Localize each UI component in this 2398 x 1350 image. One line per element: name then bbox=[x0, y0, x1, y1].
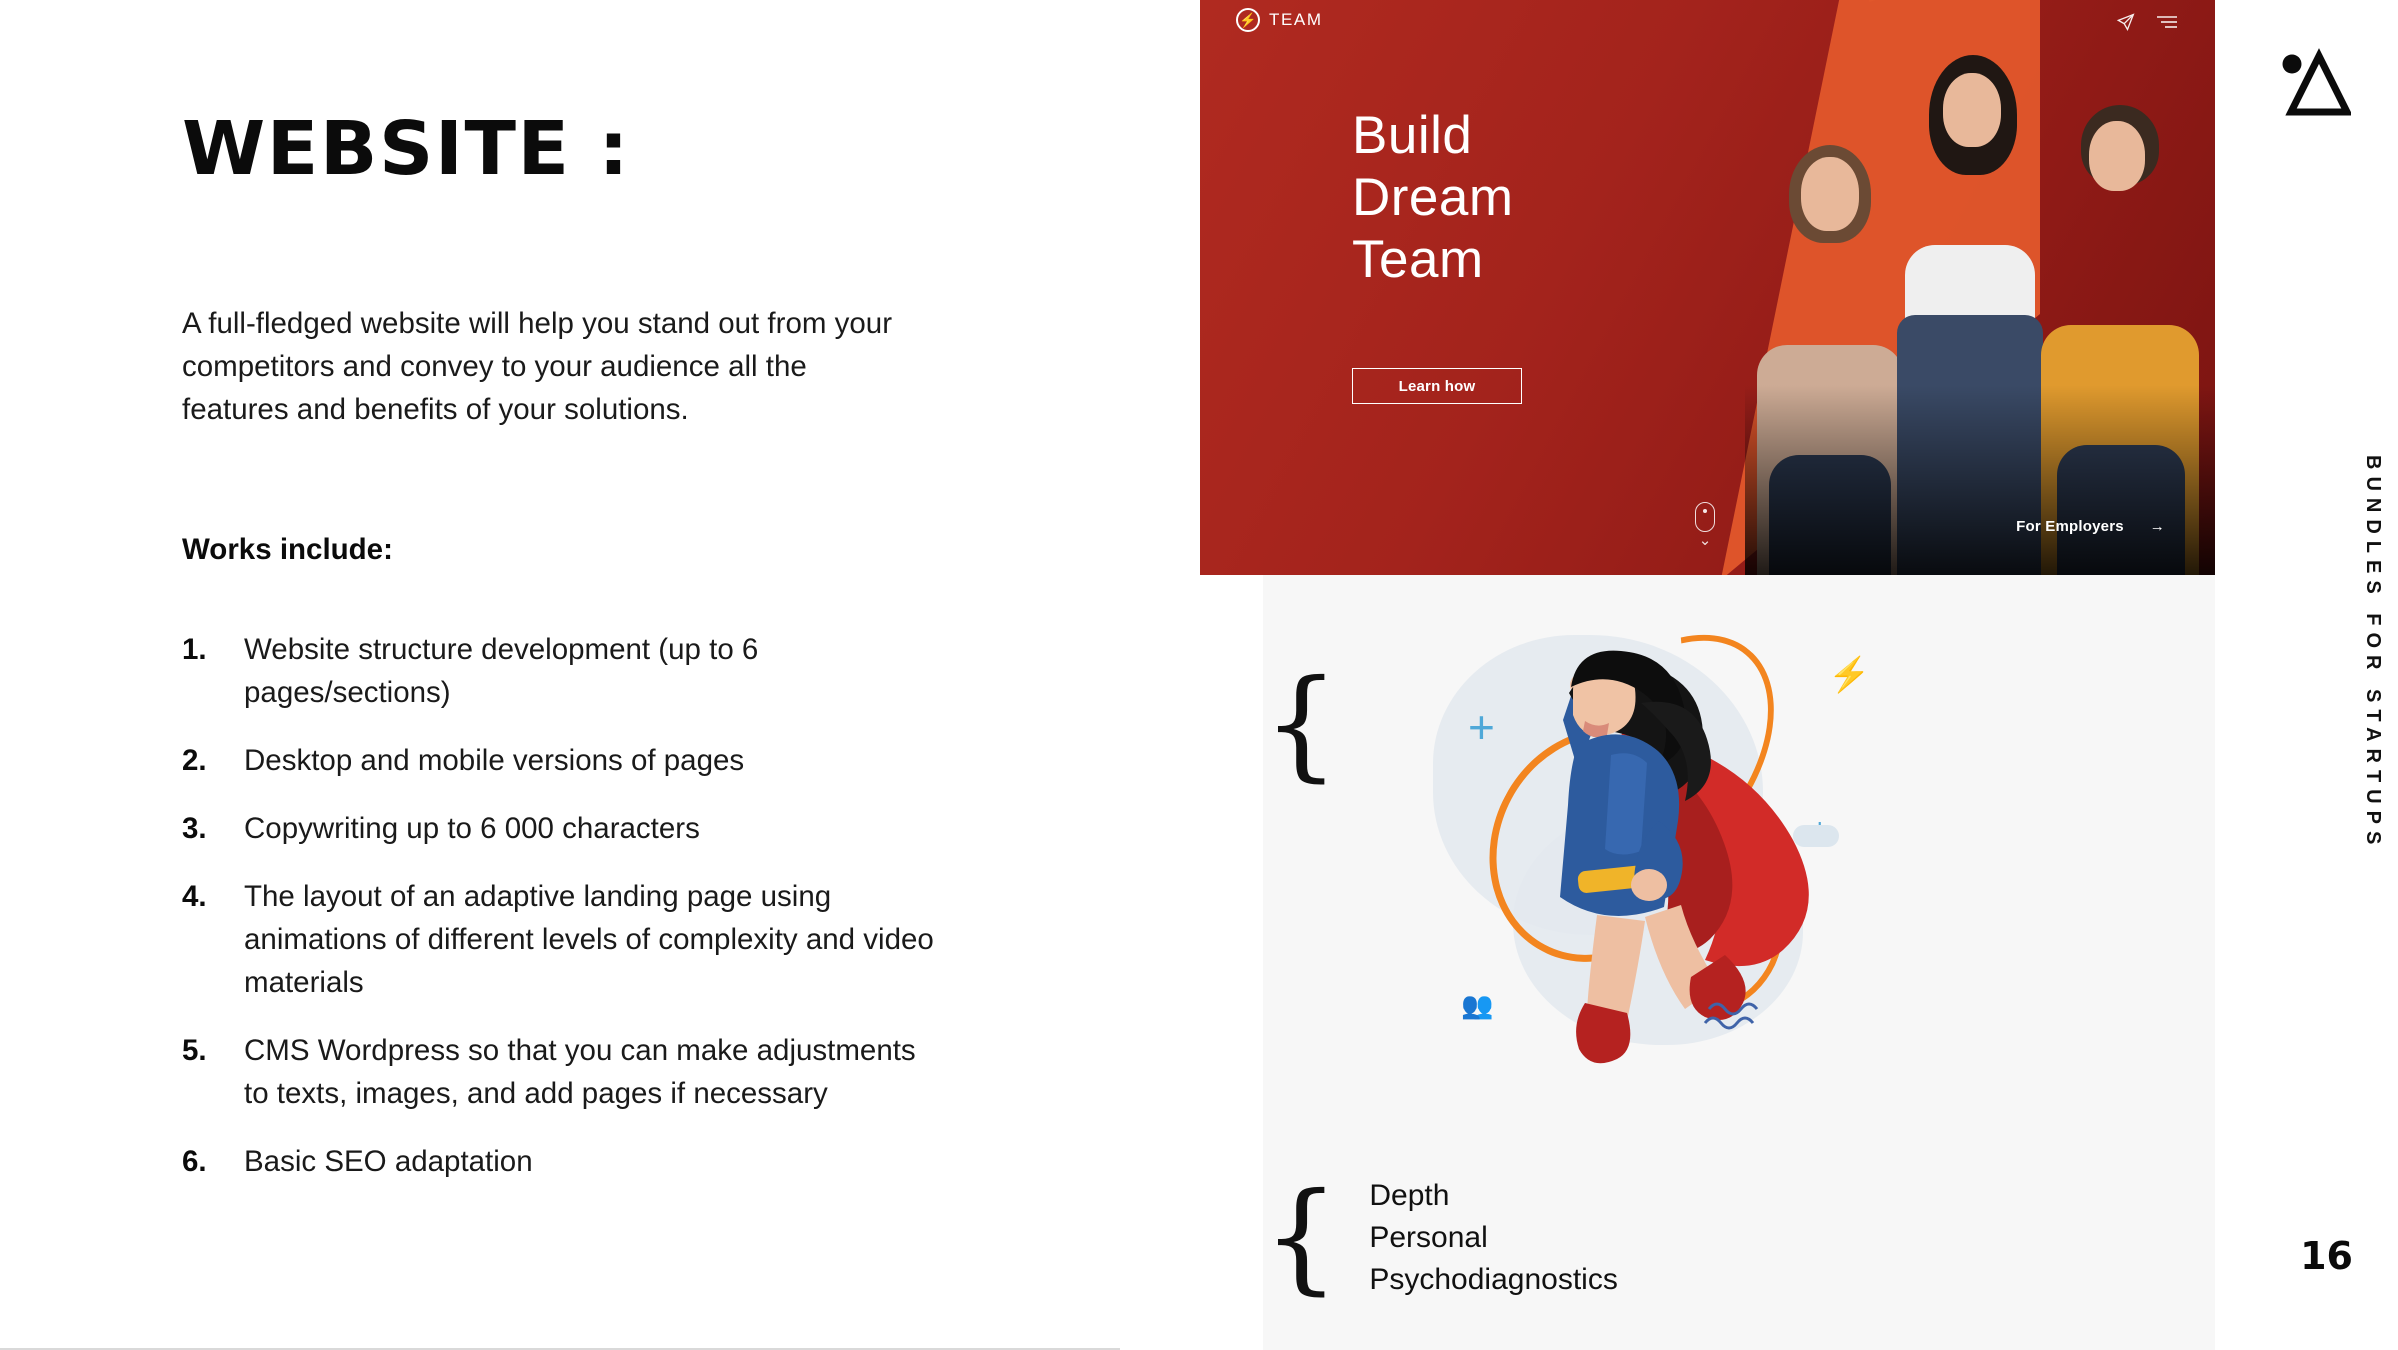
desktop-website-mockup: ⚡ TEAM Build Dream Team Learn how ⌄ For … bbox=[1200, 0, 2215, 575]
learn-how-button[interactable]: Learn how bbox=[1352, 368, 1522, 404]
lightning-bolt-icon: ⚡ bbox=[1236, 8, 1260, 32]
works-include-heading: Works include: bbox=[182, 533, 393, 567]
list-item: 6. Basic SEO adaptation bbox=[182, 1140, 942, 1183]
flying-superhero-woman-illustration: + + ⚡ 👥 bbox=[1373, 595, 1933, 1065]
list-item: 2. Desktop and mobile versions of pages bbox=[182, 739, 942, 782]
telegram-send-icon[interactable] bbox=[2115, 12, 2135, 37]
list-item-label: The layout of an adaptive landing page u… bbox=[244, 875, 942, 1004]
page-number: 16 bbox=[2300, 1234, 2353, 1278]
depth-line: Depth bbox=[1369, 1175, 1617, 1217]
brace-bottom-glyph: { bbox=[1263, 1188, 1339, 1289]
scroll-down-indicator[interactable]: ⌄ bbox=[1695, 502, 1715, 546]
depth-line: Personal bbox=[1369, 1217, 1617, 1259]
hero-logo-label: TEAM bbox=[1269, 10, 1323, 30]
list-item-number: 1. bbox=[182, 628, 244, 714]
vertical-rail-label: BUNDLES FOR STARTUPS bbox=[2361, 455, 2384, 851]
list-item-label: Basic SEO adaptation bbox=[244, 1140, 533, 1183]
depth-lines: Depth Personal Psychodiagnostics bbox=[1369, 1175, 1617, 1301]
list-item-number: 5. bbox=[182, 1029, 244, 1115]
depth-callout: { Depth Personal Psychodiagnostics bbox=[1263, 1175, 1618, 1301]
list-item-label: Website structure development (up to 6 p… bbox=[244, 628, 942, 714]
list-item: 4. The layout of an adaptive landing pag… bbox=[182, 875, 942, 1004]
arrow-right-icon: → bbox=[2150, 518, 2165, 535]
for-employers-link[interactable]: For Employers → bbox=[2016, 518, 2165, 535]
triangle-dot-logo bbox=[2275, 48, 2351, 120]
list-item: 1. Website structure development (up to … bbox=[182, 628, 942, 714]
hero-nav bbox=[2115, 12, 2177, 37]
brace-top-glyph: { bbox=[1263, 655, 1339, 794]
works-list: 1. Website structure development (up to … bbox=[182, 628, 942, 1208]
illustration-panel: { bbox=[1263, 575, 2215, 1350]
intro-paragraph: A full-fledged website will help you sta… bbox=[182, 302, 902, 431]
hero-logo[interactable]: ⚡ TEAM bbox=[1236, 8, 1323, 32]
depth-line: Psychodiagnostics bbox=[1369, 1259, 1617, 1301]
list-item-label: CMS Wordpress so that you can make adjus… bbox=[244, 1029, 942, 1115]
list-item: 5. CMS Wordpress so that you can make ad… bbox=[182, 1029, 942, 1115]
list-item: 3. Copywriting up to 6 000 characters bbox=[182, 807, 942, 850]
hamburger-menu-icon[interactable] bbox=[2157, 15, 2177, 34]
mockups-collage: { bbox=[1200, 0, 2215, 1350]
list-item-label: Copywriting up to 6 000 characters bbox=[244, 807, 700, 850]
list-item-label: Desktop and mobile versions of pages bbox=[244, 739, 744, 782]
left-content-column: WEBSITE : A full-fledged website will he… bbox=[0, 0, 1200, 1350]
page-title: WEBSITE : bbox=[182, 112, 630, 186]
list-item-number: 2. bbox=[182, 739, 244, 782]
for-employers-label: For Employers bbox=[2016, 518, 2124, 535]
hero-photo-gradient bbox=[1745, 385, 2215, 575]
hero-headline: Build Dream Team bbox=[1352, 105, 1514, 291]
list-item-number: 4. bbox=[182, 875, 244, 1004]
list-item-number: 3. bbox=[182, 807, 244, 850]
list-item-number: 6. bbox=[182, 1140, 244, 1183]
mouse-scroll-icon bbox=[1695, 502, 1715, 532]
chevron-down-icon: ⌄ bbox=[1699, 536, 1712, 546]
